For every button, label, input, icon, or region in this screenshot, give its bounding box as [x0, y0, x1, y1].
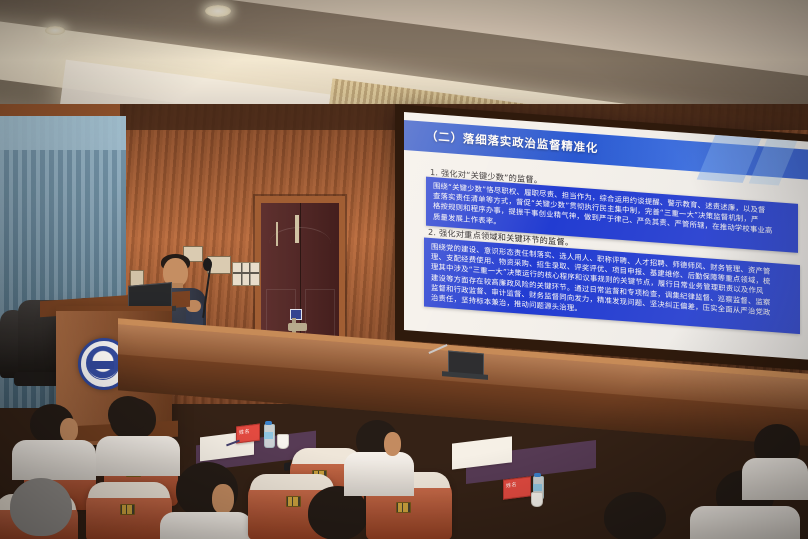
bottle-label: [533, 484, 542, 491]
screen-glare: [404, 112, 808, 360]
emblem-motif: [90, 361, 114, 369]
audience-shirt: [160, 512, 252, 539]
audience-head: [108, 396, 148, 432]
door-arch-detail: [269, 227, 331, 244]
audience-shirt: [96, 436, 180, 476]
audience-shirt: [344, 452, 414, 496]
seat-number-plate: [286, 496, 301, 507]
seat-number-plate: [120, 504, 135, 515]
bottle-label: [264, 432, 273, 439]
microphone-icon: [203, 258, 212, 271]
audience-face: [60, 418, 78, 442]
projection-screen: （二）落细落实政治监督精准化 1. 强化对“关键少数”的监督。 围绕“关键少数”…: [404, 112, 808, 360]
name-card-text: 姓名: [239, 428, 250, 436]
bottle-cap: [534, 473, 541, 477]
audience-head: [604, 492, 666, 539]
seat-headrest: [250, 474, 334, 490]
audience-shirt: [742, 458, 808, 500]
bottle-cap: [265, 421, 272, 425]
audience-head-grey: [10, 478, 72, 536]
name-card-text: 姓名: [506, 481, 517, 489]
door-handle-icon[interactable]: [288, 323, 307, 331]
paper-cup: [531, 492, 543, 507]
door-trim: [295, 215, 299, 243]
door-trim: [276, 222, 278, 246]
audience-face: [384, 432, 401, 456]
audience-shirt: [690, 506, 800, 539]
seat-number-plate: [396, 502, 411, 513]
paper-cup: [277, 434, 289, 449]
audience-shirt: [12, 440, 96, 480]
audience-face: [212, 484, 234, 514]
wall-switch-grid[interactable]: [232, 262, 260, 286]
name-card: 姓名: [503, 476, 531, 499]
seat-headrest: [88, 482, 170, 498]
conference-room-photo: （二）落细落实政治监督精准化 1. 强化对“关键少数”的监督。 围绕“关键少数”…: [0, 0, 808, 539]
